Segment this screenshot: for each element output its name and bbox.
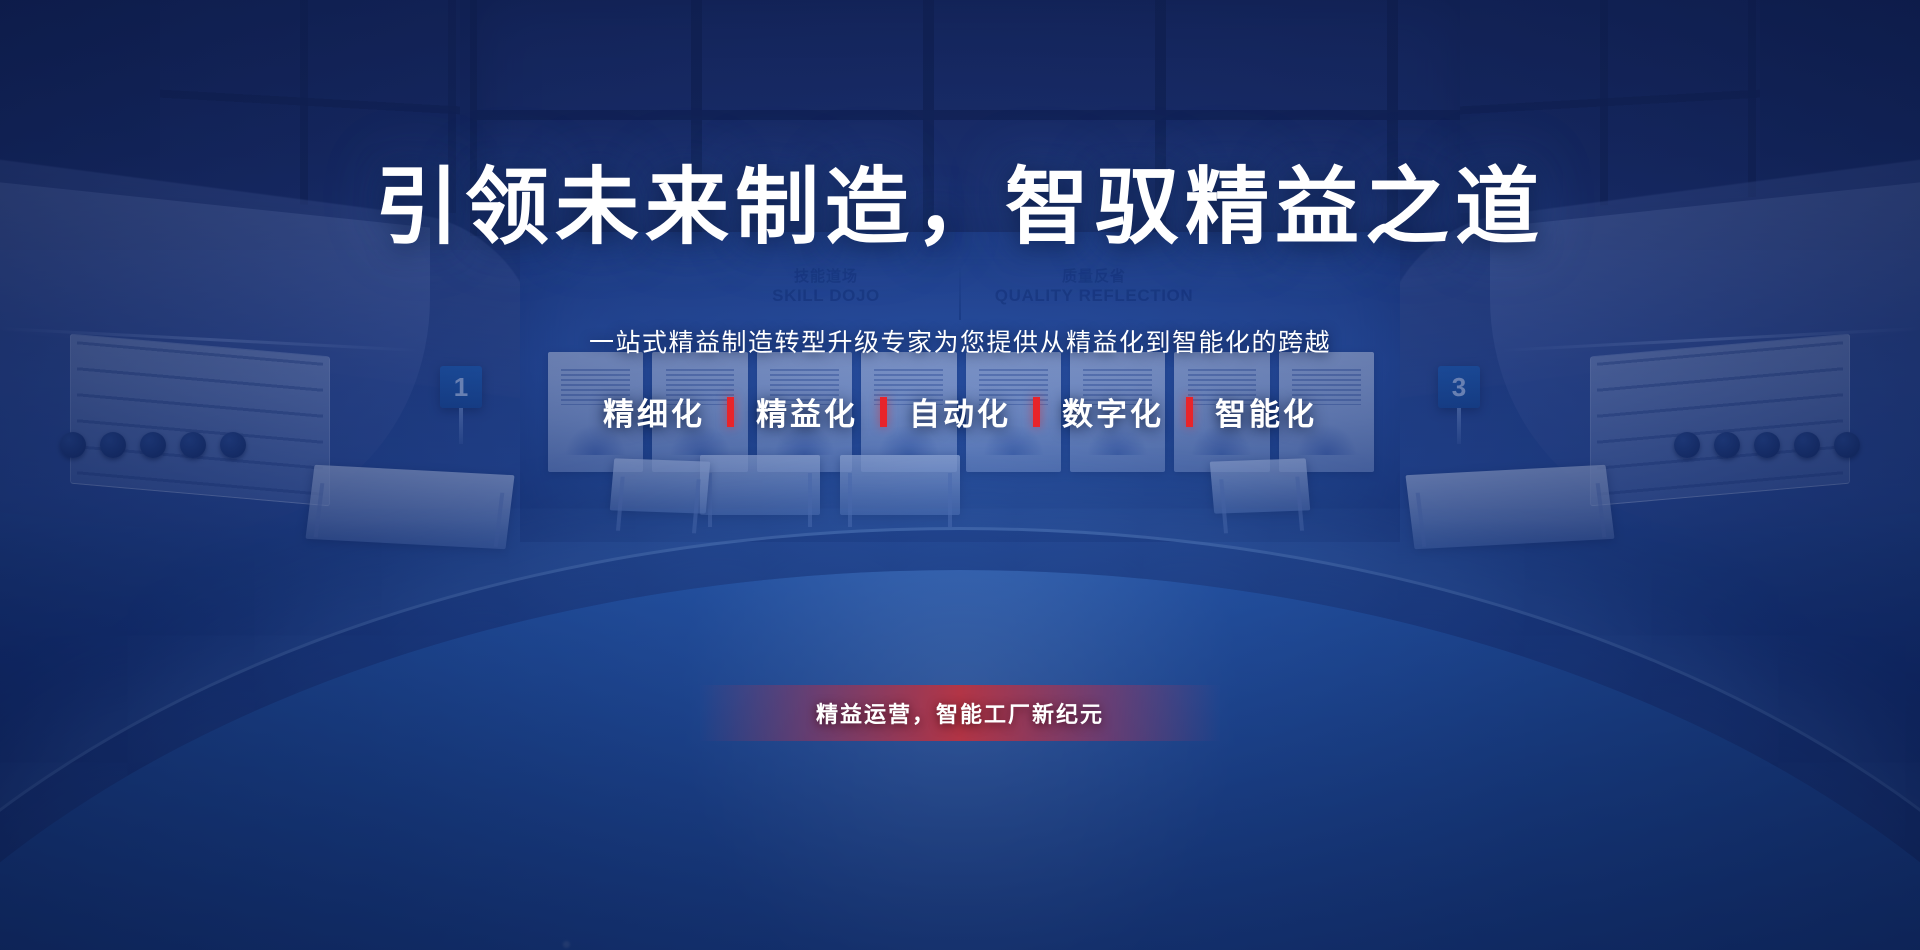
- keyword-item-5: 智能化: [1193, 389, 1339, 434]
- tagline-badge: 精益运营，智能工厂新纪元: [700, 685, 1220, 741]
- keyword-item-3: 自动化: [887, 389, 1033, 434]
- keyword-separator-icon: [880, 397, 887, 427]
- keyword-item-4: 数字化: [1040, 389, 1186, 434]
- hero-banner: 技能道场 SKILL DOJO 质量反省 QUALITY REFLECTION: [0, 0, 1920, 950]
- keyword-item-1: 精细化: [581, 389, 727, 434]
- page-title: 引领未来制造，智驭精益之道: [375, 140, 1545, 261]
- keyword-separator-icon: [1186, 397, 1193, 427]
- hero-content: 引领未来制造，智驭精益之道 一站式精益制造转型升级专家为您提供从精益化到智能化的…: [0, 0, 1920, 950]
- keyword-separator-icon: [727, 397, 734, 427]
- tagline-badge-text: 精益运营，智能工厂新纪元: [816, 697, 1104, 729]
- hero-subheadline: 一站式精益制造转型升级专家为您提供从精益化到智能化的跨越: [589, 323, 1331, 359]
- keyword-item-2: 精益化: [734, 389, 880, 434]
- keyword-separator-icon: [1033, 397, 1040, 427]
- keyword-list: 精细化 精益化 自动化 数字化 智能化: [581, 389, 1339, 434]
